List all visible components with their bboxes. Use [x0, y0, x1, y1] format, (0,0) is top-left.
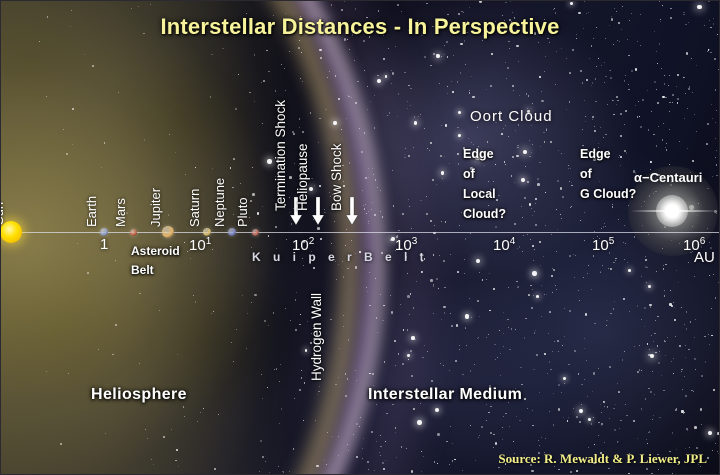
arrow-heliopause — [311, 197, 325, 225]
feature-label-bow-shock: Bow Shock — [329, 143, 344, 211]
cloud-label-edge-of-local-cloud-line-1: of — [463, 167, 475, 181]
belt-label-asteroid-line-1: Belt — [131, 263, 154, 277]
region-label-heliosphere: Heliosphere — [91, 386, 187, 404]
distance-axis-line — [0, 232, 720, 233]
planet-label-sun: Sun — [0, 202, 6, 225]
planet-label-mars: Mars — [113, 198, 128, 227]
planet-label-neptune: Neptune — [212, 178, 227, 227]
tick-base: 10 — [493, 237, 510, 254]
axis-tick-105: 105 — [592, 236, 614, 254]
axis-tick-101: 101 — [189, 236, 211, 254]
tick-base: 10 — [592, 237, 609, 254]
cloud-label-edge-of-local-cloud-line-3: Cloud? — [463, 207, 506, 221]
planet-marker-saturn — [203, 228, 211, 236]
tick-base: 1 — [100, 236, 108, 253]
tick-exponent: 4 — [510, 236, 516, 247]
feature-label-hydrogen-wall: Hydrogen Wall — [309, 293, 324, 381]
cloud-label-edge-of-local-cloud-line-2: Local — [463, 187, 496, 201]
tick-exponent: 1 — [206, 236, 212, 247]
planet-marker-earth — [100, 228, 108, 236]
axis-tick-1: 1 — [100, 236, 108, 253]
planet-label-earth: Earth — [84, 196, 99, 227]
feature-label-termination-shock: Termination Shock — [273, 100, 288, 211]
axis-unit-label: AU — [694, 249, 715, 266]
planet-label-jupiter: Jupiter — [148, 188, 163, 227]
planet-marker-pluto — [252, 229, 259, 236]
planet-marker-mars — [130, 229, 137, 236]
cloud-label-alpha-centauri: α−Centauri — [634, 170, 702, 185]
feature-label-heliopause: Heliopause — [295, 143, 310, 211]
tick-exponent: 2 — [309, 236, 315, 247]
planet-marker-jupiter — [162, 226, 174, 238]
planet-marker-neptune — [228, 228, 236, 236]
tick-exponent: 3 — [412, 236, 418, 247]
cloud-label-edge-of-g-cloud-line-1: of — [580, 167, 592, 181]
axis-tick-104: 104 — [493, 236, 515, 254]
arrow-bow-shock — [345, 197, 359, 225]
tick-exponent: 5 — [609, 236, 615, 247]
cloud-label-oort-cloud: Oort Cloud — [470, 108, 553, 125]
planet-label-pluto: Pluto — [235, 197, 250, 227]
cloud-label-edge-of-local-cloud-line-0: Edge — [463, 147, 494, 161]
belt-label-asteroid-line-0: Asteroid — [131, 244, 180, 258]
planet-label-saturn: Saturn — [187, 189, 202, 227]
page-title: Interstellar Distances - In Perspective — [0, 14, 720, 40]
tick-exponent: 6 — [700, 236, 706, 247]
source-credit: Source: R. Mewaldt & P. Liewer, JPL — [498, 451, 707, 467]
diagram-canvas: 1101102103104105106 SunEarthMarsJupiterS… — [0, 0, 720, 475]
tick-base: 10 — [189, 237, 206, 254]
region-label-interstellar-medium: Interstellar Medium — [368, 386, 522, 404]
cloud-label-edge-of-g-cloud-line-0: Edge — [580, 147, 611, 161]
cloud-label-edge-of-g-cloud-line-2: G Cloud? — [580, 187, 636, 201]
alpha-centauri-core — [656, 195, 688, 227]
belt-label-kuiper: K u i p e r B e l t — [252, 250, 428, 264]
